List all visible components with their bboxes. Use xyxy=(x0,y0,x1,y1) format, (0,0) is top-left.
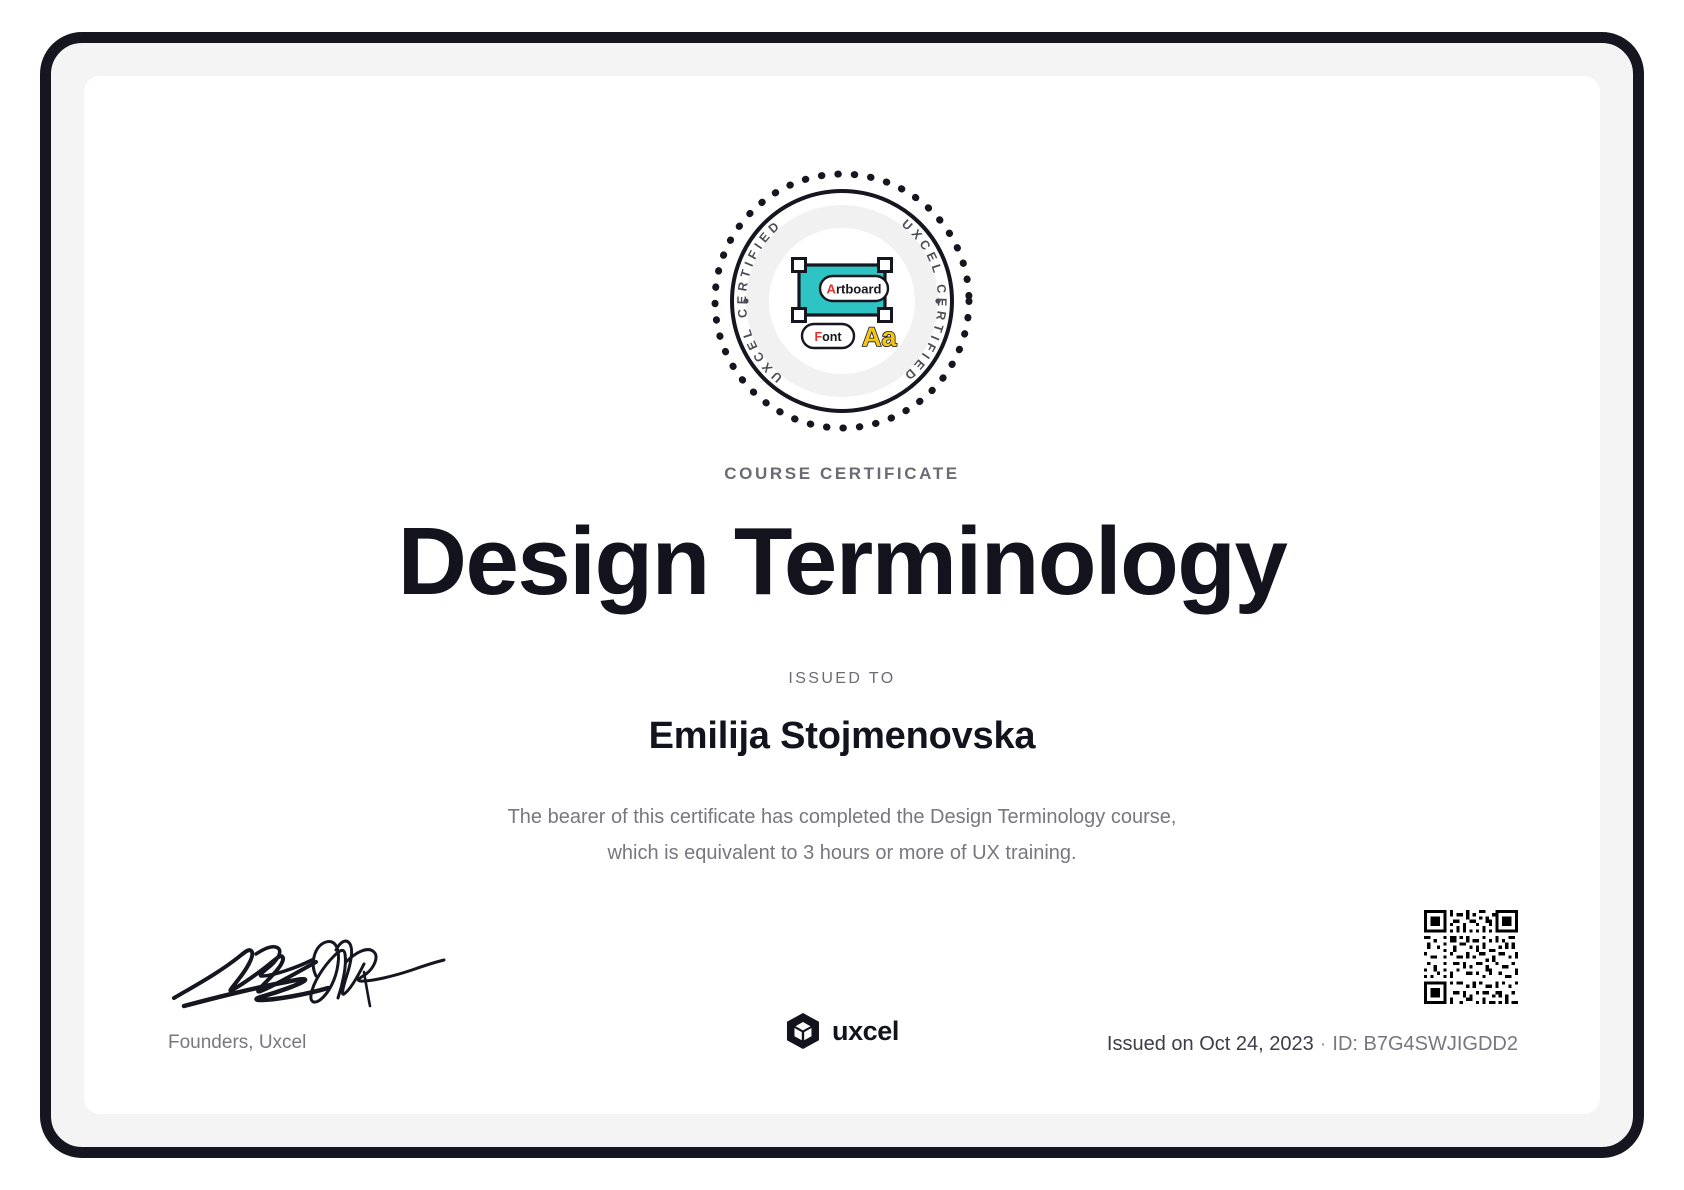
description-line-1: The bearer of this certificate has compl… xyxy=(508,806,1177,828)
font-pill-label: Font xyxy=(814,330,842,344)
seal-bullet-left xyxy=(743,298,748,303)
artboard-handle-bl xyxy=(793,309,806,322)
recipient-name: Emilija Stojmenovska xyxy=(84,715,1600,758)
page-title: Design Terminology xyxy=(84,508,1600,616)
uxcel-logo: uxcel xyxy=(785,1012,899,1050)
uxcel-wordmark: uxcel xyxy=(832,1016,899,1047)
signature-image xyxy=(168,932,458,1018)
certificate-id: ID: B7G4SWJIGDD2 xyxy=(1332,1033,1518,1055)
qr-code[interactable] xyxy=(1424,910,1518,1004)
artboard-pill-label: Artboard xyxy=(827,282,882,297)
uxcel-hexagon-icon xyxy=(785,1012,821,1050)
signature-block: Founders, Uxcel xyxy=(168,932,498,1054)
font-rest: ont xyxy=(822,330,842,344)
seal-graphic: UXCEL CERTIFIED UXCEL CERTIFIED Ar xyxy=(707,166,977,436)
issued-to-label: ISSUED TO xyxy=(84,670,1600,688)
seal-bullet-right xyxy=(935,298,940,303)
certificate-description: The bearer of this certificate has compl… xyxy=(427,800,1257,871)
hexagon-shape xyxy=(787,1013,819,1049)
founders-label: Founders, Uxcel xyxy=(168,1032,498,1054)
issue-line: Issued on Oct 24, 2023·ID: B7G4SWJIGDD2 xyxy=(1107,1033,1518,1056)
certificate-card: UXCEL CERTIFIED UXCEL CERTIFIED Ar xyxy=(84,76,1600,1114)
aa-glyph: Aa xyxy=(862,322,897,352)
course-certificate-eyebrow: COURSE CERTIFICATE xyxy=(84,464,1600,484)
description-line-2: which is equivalent to 3 hours or more o… xyxy=(607,842,1076,864)
artboard-handle-tl xyxy=(793,259,806,272)
issue-separator: · xyxy=(1314,1033,1333,1055)
certification-seal: UXCEL CERTIFIED UXCEL CERTIFIED Ar xyxy=(707,166,977,436)
artboard-handle-tr xyxy=(879,259,892,272)
artboard-handle-br xyxy=(879,309,892,322)
issue-info: Issued on Oct 24, 2023·ID: B7G4SWJIGDD2 xyxy=(1107,1033,1518,1056)
artboard-rest: rtboard xyxy=(836,282,882,297)
certificate-frame: UXCEL CERTIFIED UXCEL CERTIFIED Ar xyxy=(40,32,1644,1158)
issued-on-date: Issued on Oct 24, 2023 xyxy=(1107,1033,1314,1055)
qr-code-image[interactable] xyxy=(1424,910,1518,1004)
